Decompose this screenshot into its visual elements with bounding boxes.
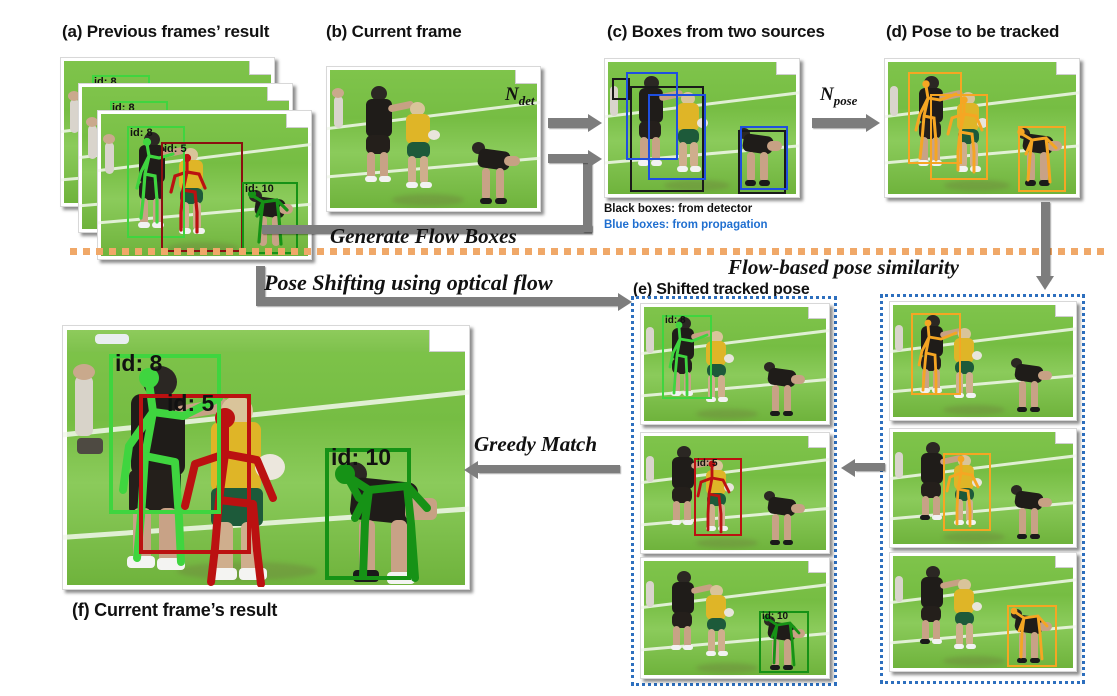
panel-e-thumb-2-idtag: id: 5 [697, 459, 718, 469]
arrow-label-greedy-match: Greedy Match [474, 432, 597, 457]
panel-e-thumb-3-idtag: id: 10 [762, 612, 788, 622]
panel-e-thumb-2-box [694, 458, 742, 536]
legend-black-boxes: Black boxes: from detector [604, 203, 752, 215]
panel-right-thumb-1 [889, 301, 1077, 421]
panel-caption-c: (c) Boxes from two sources [607, 22, 825, 42]
panel-f-idtag-id8: id: 8 [115, 352, 162, 375]
panel-right-thumb-3-box [1007, 605, 1057, 667]
panel-right-thumb-2-box [943, 453, 991, 531]
panel-f-idtag-id10: id: 10 [331, 446, 391, 469]
panel-right-thumb-2 [889, 428, 1077, 548]
panel-e-thumb-1: id: 8 [640, 303, 830, 425]
flow-similarity-head [1036, 276, 1054, 290]
panel-caption-d: (d) Pose to be tracked [886, 22, 1059, 42]
panel-a-idtag-id8: id: 8 [130, 128, 153, 139]
section-divider [70, 248, 1105, 255]
right-to-e-line [855, 463, 885, 471]
legend-blue-boxes: Blue boxes: from propagation [604, 219, 768, 231]
panel-caption-f: (f) Current frame’s result [72, 600, 277, 621]
pose-shifting-line [256, 297, 622, 306]
arrow-c-to-d-head [866, 114, 880, 132]
n-det-subscript: det [519, 93, 535, 108]
pose-shifting-head [618, 293, 632, 311]
panel-f-frame: id: 8 id: 5 id: 10 [62, 325, 470, 590]
panel-f-idtag-id5: id: 5 [167, 392, 214, 415]
panel-e-thumb-3: id: 10 [640, 557, 830, 679]
panel-e-thumb-1-idtag: id: 8 [665, 316, 686, 326]
figure-canvas: (a) Previous frames’ result (b) Current … [0, 0, 1117, 696]
arrow-label-generate-flow-boxes: Generate Flow Boxes [330, 224, 517, 249]
right-to-e-head [841, 459, 855, 477]
panel-a-box-id5 [161, 142, 243, 252]
panel-d-box-3 [1018, 126, 1066, 192]
arrow-label-n-pose: Npose [820, 84, 857, 109]
generate-flow-boxes-head [588, 150, 602, 168]
panel-a-idtag-id5: id: 5 [164, 144, 187, 155]
panel-a-idtag-id10: id: 10 [245, 184, 274, 195]
panel-c-propagation-box-2 [648, 94, 706, 180]
n-det-symbol: N [505, 84, 519, 105]
panel-f-box-id5 [139, 394, 251, 554]
panel-a-frame-front: id: 8 id: 5 id: 10 [97, 110, 312, 260]
generate-flow-boxes-top-line [548, 154, 590, 163]
arrow-c-to-d-line [812, 118, 868, 128]
panel-caption-a: (a) Previous frames’ result [62, 22, 269, 42]
panel-d-frame [884, 58, 1080, 198]
panel-caption-b: (b) Current frame [326, 22, 461, 42]
arrow-label-n-det: Ndet [505, 84, 535, 109]
panel-e-thumb-1-box [662, 315, 712, 399]
n-pose-symbol: N [820, 84, 834, 105]
greedy-match-line [478, 465, 620, 473]
panel-e-thumb-2: id: 5 [640, 432, 830, 554]
arrow-label-pose-shifting: Pose Shifting using optical flow [264, 270, 553, 296]
panel-c-frame [604, 58, 800, 198]
panel-d-box-2 [930, 94, 988, 180]
panel-right-thumb-1-box [911, 313, 961, 395]
panel-c-propagation-box-3 [740, 126, 788, 190]
arrow-label-flow-similarity: Flow-based pose similarity [728, 255, 959, 280]
arrow-b-to-c-line [548, 118, 590, 128]
panel-right-thumb-3 [889, 552, 1077, 672]
greedy-match-head [464, 461, 478, 479]
arrow-b-to-c-head [588, 114, 602, 132]
n-pose-subscript: pose [834, 93, 858, 108]
flow-similarity-line [1041, 202, 1050, 280]
